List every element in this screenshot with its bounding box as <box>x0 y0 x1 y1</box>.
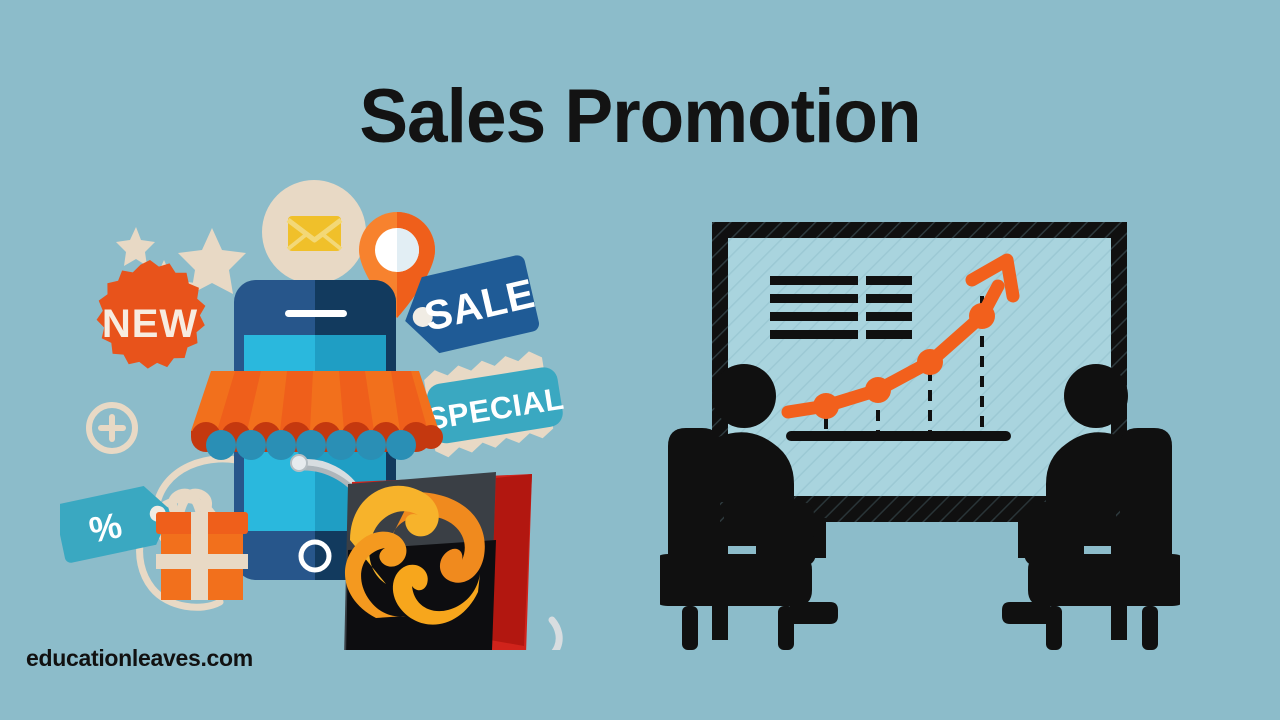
site-watermark: educationleaves.com <box>26 645 253 672</box>
slide-canvas: Sales Promotion NEW <box>0 0 1280 720</box>
page-title: Sales Promotion <box>26 79 1255 155</box>
online-store-promotion-illustration: NEW SALE SPECIAL <box>60 150 580 650</box>
special-badge: SPECIAL <box>419 347 570 459</box>
awning <box>191 371 443 460</box>
chart-axis-baseline <box>786 431 1011 441</box>
business-meeting-presentation-icon <box>660 190 1180 660</box>
new-badge-label: NEW <box>102 302 198 346</box>
plus-circle-icon <box>89 405 135 451</box>
new-badge: NEW <box>97 260 206 369</box>
